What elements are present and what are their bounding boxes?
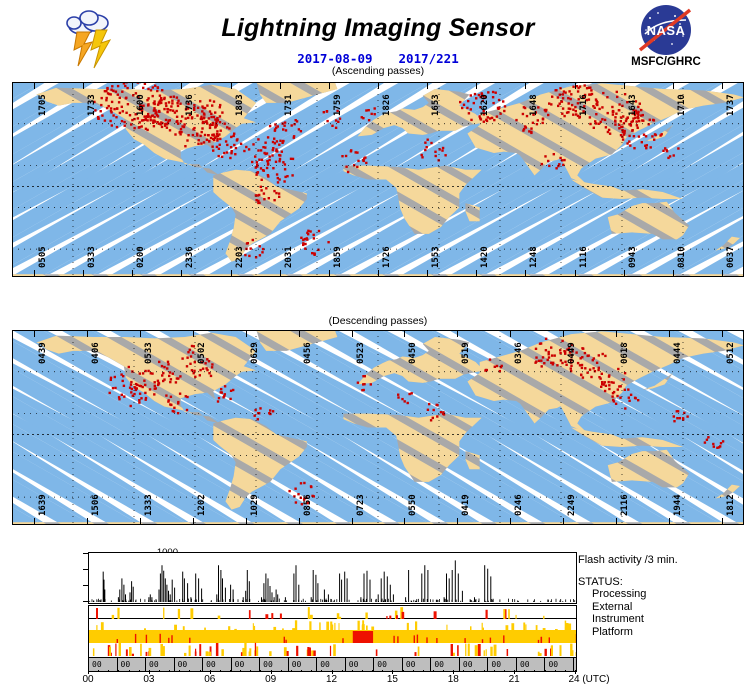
x-axis-minor-tick <box>260 670 261 672</box>
nasa-meatball-icon: NASA <box>628 4 704 56</box>
x-axis-minor-tick <box>301 670 302 672</box>
x-axis-minor-tick <box>311 670 312 672</box>
x-axis-minor-tick <box>250 670 251 672</box>
x-axis-minor-tick <box>484 670 485 672</box>
timeline-x-axis: 000306091215182124 (UTC) <box>88 670 575 686</box>
x-axis-minor-tick <box>504 670 505 672</box>
x-axis-minor-tick <box>382 670 383 672</box>
status-row-platform <box>89 642 576 656</box>
x-axis-minor-tick <box>139 670 140 672</box>
x-axis-minor-tick <box>342 670 343 672</box>
x-axis-minor-tick <box>179 670 180 672</box>
legend-status-instrument: Instrument <box>578 613 753 626</box>
timeline-legend: Flash activity /3 min. STATUS: Processin… <box>578 554 753 638</box>
status-bars[interactable] <box>88 605 577 659</box>
x-axis-minor-tick <box>200 670 201 672</box>
x-axis-minor-tick <box>534 670 535 672</box>
x-axis-minor-tick <box>108 670 109 672</box>
x-axis-minor-tick <box>321 670 322 672</box>
x-axis-minor-tick <box>291 670 292 672</box>
x-axis-minor-tick <box>169 670 170 672</box>
descending-caption: (Descending passes) <box>0 315 756 327</box>
x-axis-minor-tick <box>413 670 414 672</box>
x-axis-minor-tick <box>524 670 525 672</box>
x-axis-minor-tick <box>423 670 424 672</box>
date-iso: 2017-08-09 <box>297 51 372 66</box>
svg-text:NASA: NASA <box>647 23 686 38</box>
x-axis-minor-tick <box>220 670 221 672</box>
x-axis-minor-tick <box>230 670 231 672</box>
date-doy: 2017/221 <box>399 51 459 66</box>
x-axis-minor-tick <box>565 670 566 672</box>
x-axis-minor-tick <box>494 670 495 672</box>
x-axis-minor-tick <box>463 670 464 672</box>
x-axis-minor-tick <box>118 670 119 672</box>
timeline-panel: 1101001000 00000000000000000000000000000… <box>0 548 756 680</box>
flash-activity-plot[interactable] <box>88 552 577 604</box>
page-header: Lightning Imaging Sensor 2017-08-092017/… <box>0 0 756 78</box>
legend-status-platform: Platform <box>578 626 753 639</box>
x-axis-minor-tick <box>362 670 363 672</box>
x-axis-minor-tick <box>545 670 546 672</box>
x-axis-minor-tick <box>98 670 99 672</box>
x-axis-minor-tick <box>433 670 434 672</box>
legend-status-external: External <box>578 601 753 614</box>
x-axis-minor-tick <box>474 670 475 672</box>
x-axis-minor-tick <box>403 670 404 672</box>
descending-passes-map[interactable]: 0439040605330502062904560523045005190346… <box>12 330 744 525</box>
legend-status-processing: Processing <box>578 588 753 601</box>
ascending-passes-map[interactable]: 1705173316001736180317311759182616531620… <box>12 82 744 277</box>
x-axis-minor-tick <box>555 670 556 672</box>
nasa-center-label: MSFC/GHRC <box>615 56 717 68</box>
x-axis-minor-tick <box>443 670 444 672</box>
x-axis-minor-tick <box>240 670 241 672</box>
x-axis-minor-tick <box>281 670 282 672</box>
x-axis-minor-tick <box>129 670 130 672</box>
legend-flash-activity: Flash activity /3 min. <box>578 554 753 566</box>
x-axis-minor-tick <box>352 670 353 672</box>
x-axis-minor-tick <box>372 670 373 672</box>
x-axis-minor-tick <box>189 670 190 672</box>
x-axis-minor-tick <box>159 670 160 672</box>
legend-status-title: STATUS: <box>578 576 753 588</box>
